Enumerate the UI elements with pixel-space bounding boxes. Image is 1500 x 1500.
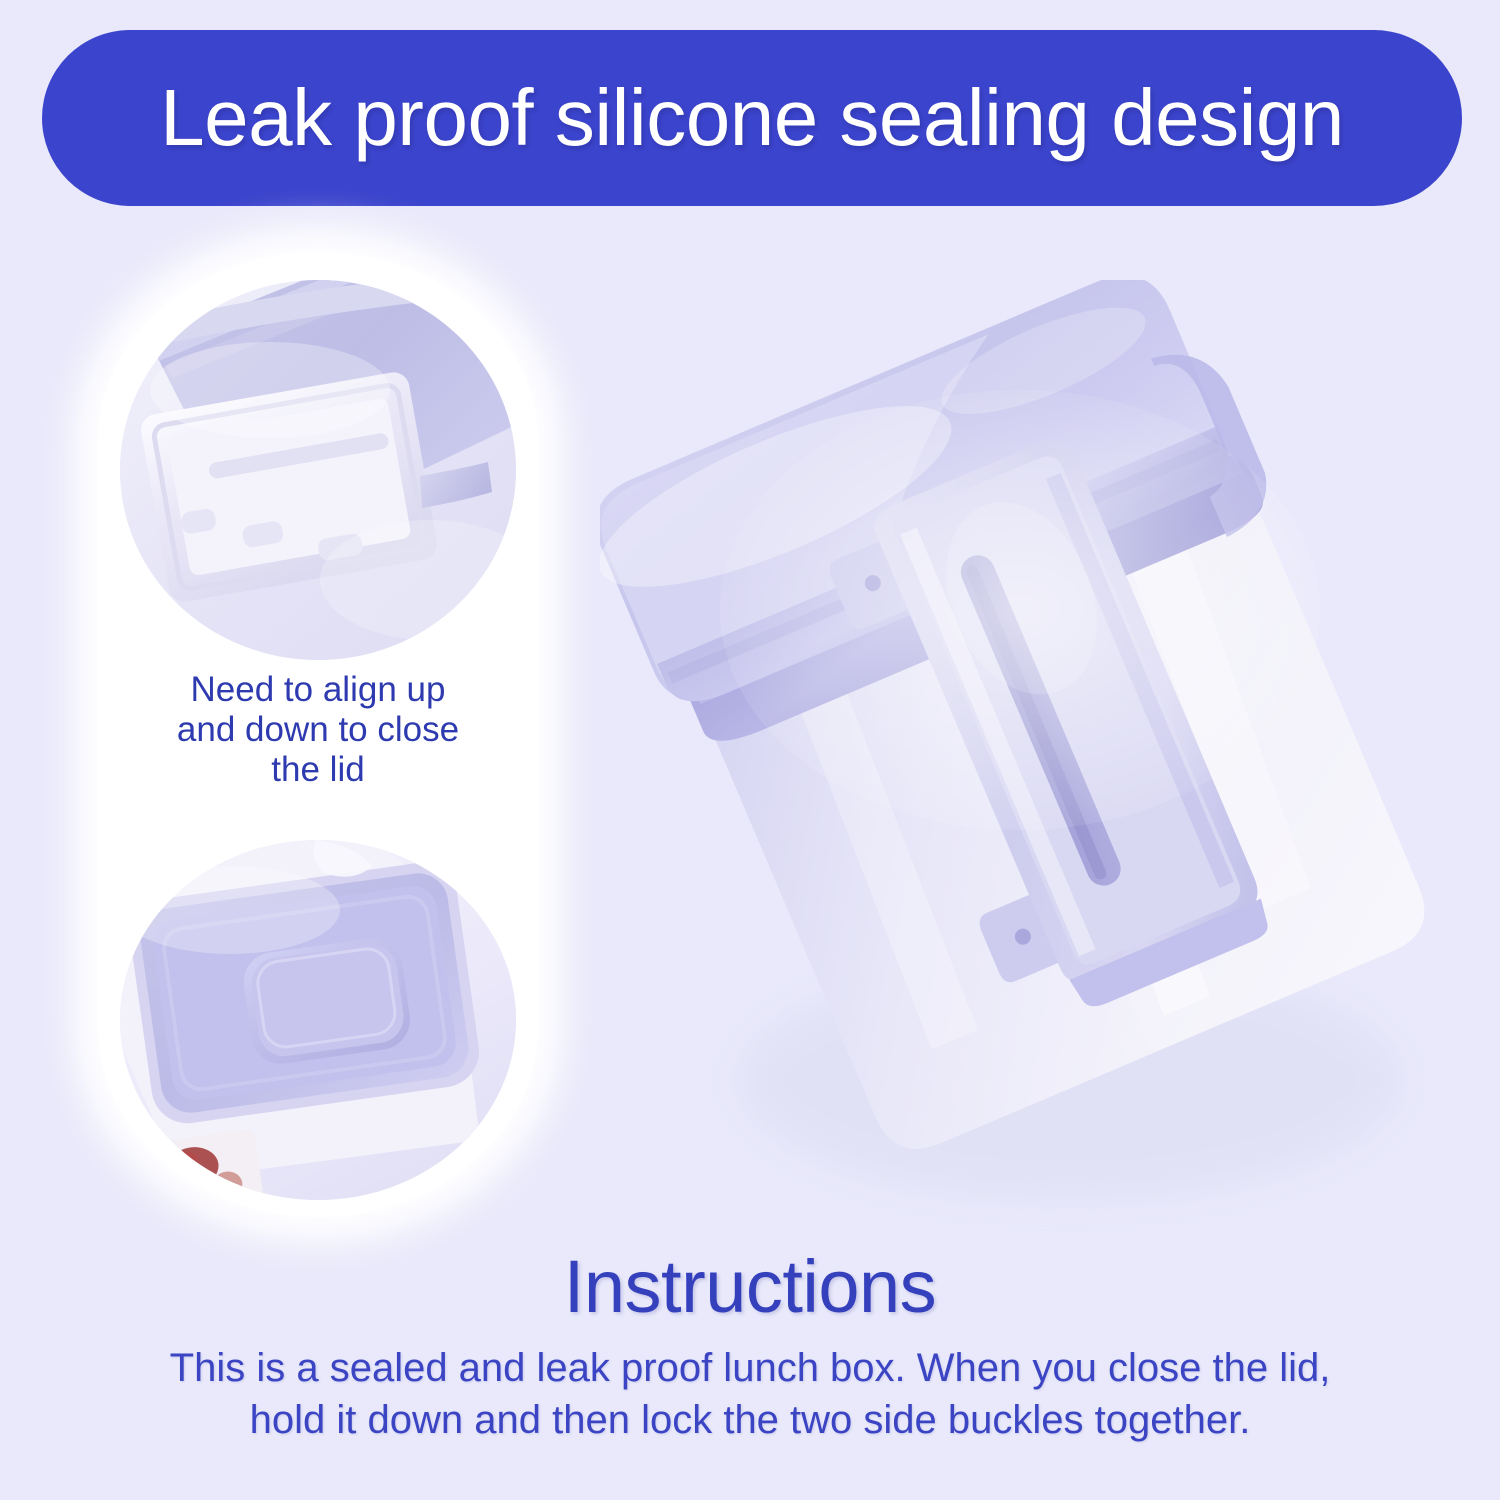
inset-caption-line-1: Need to align up bbox=[108, 670, 528, 710]
inset-caption-line-3: the lid bbox=[108, 750, 528, 790]
inset-caption-line-2: and down to close bbox=[108, 710, 528, 750]
instructions-body: This is a sealed and leak proof lunch bo… bbox=[0, 1342, 1500, 1448]
instructions-section: Instructions This is a sealed and leak p… bbox=[0, 1248, 1500, 1447]
instructions-body-line-1: This is a sealed and leak proof lunch bo… bbox=[90, 1342, 1410, 1395]
instructions-body-line-2: hold it down and then lock the two side … bbox=[90, 1394, 1410, 1447]
instructions-heading: Instructions bbox=[0, 1248, 1500, 1326]
inset-photo-sealing-ring bbox=[120, 840, 516, 1200]
inset-caption: Need to align up and down to close the l… bbox=[108, 670, 528, 790]
inset-photo-lid-alignment bbox=[120, 280, 516, 660]
inset-detail-panel: Need to align up and down to close the l… bbox=[98, 252, 538, 1217]
page-title: Leak proof silicone sealing design bbox=[160, 78, 1344, 158]
header-banner: Leak proof silicone sealing design bbox=[42, 30, 1462, 206]
hero-product-image bbox=[600, 280, 1500, 1240]
